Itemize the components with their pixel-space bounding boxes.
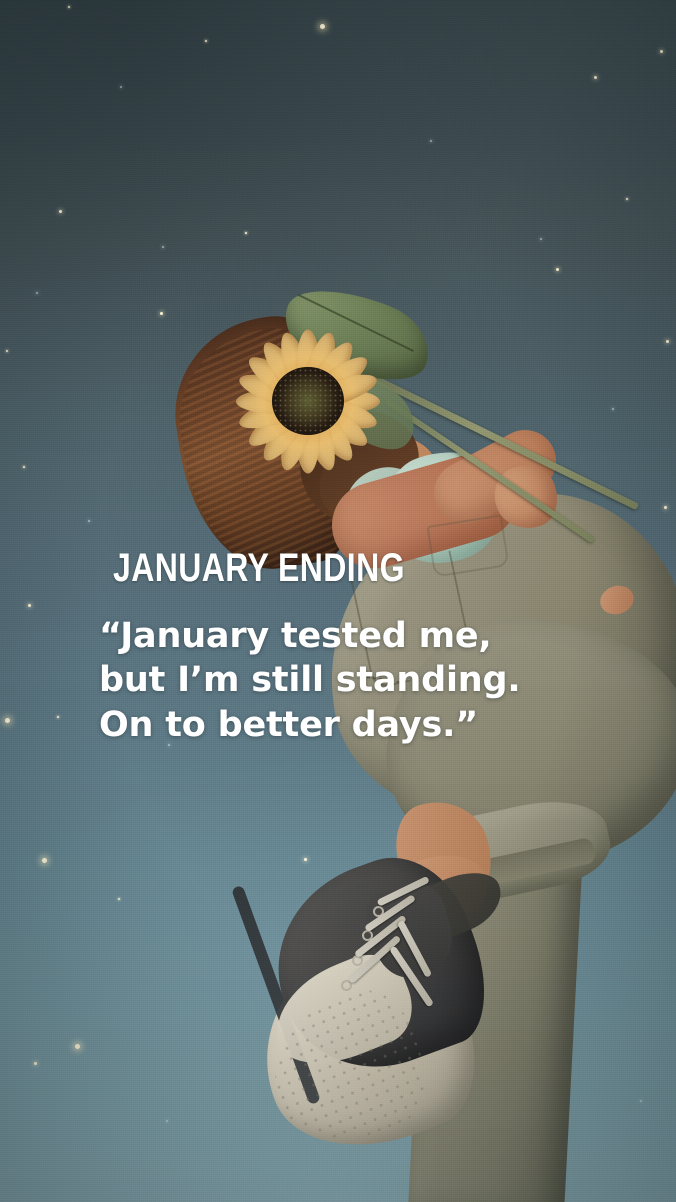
poster-canvas: JANUARY ENDING “January tested me, but I… bbox=[0, 0, 676, 1202]
quote-text: “January tested me, but I’m still standi… bbox=[99, 614, 676, 747]
text-overlay: JANUARY ENDING “January tested me, but I… bbox=[0, 548, 676, 747]
headline: JANUARY ENDING bbox=[113, 548, 563, 588]
